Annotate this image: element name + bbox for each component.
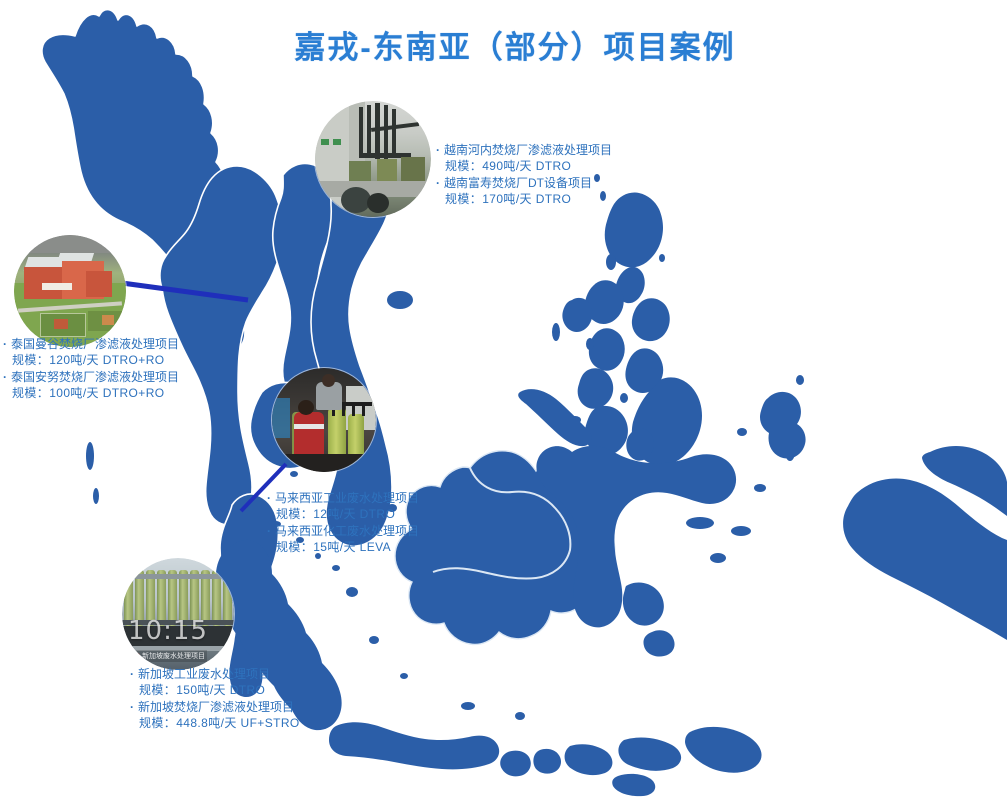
project-title: 新加坡工业废水处理项目 (131, 667, 270, 681)
project-spec: 规模：170吨/天 DTRO (437, 191, 612, 207)
project-entry: 新加坡工业废水处理项目 规模：150吨/天 DTRO (131, 666, 300, 698)
singapore-project-photo[interactable]: 10:15 新加坡废水处理项目 (122, 558, 234, 670)
project-title: 越南富寿焚烧厂DT设备项目 (437, 176, 592, 190)
project-spec: 规模：12吨/天 DTRO (268, 506, 419, 522)
project-spec: 规模：100吨/天 DTRO+RO (4, 385, 179, 401)
island-andaman (86, 442, 94, 470)
caption-thailand: 泰国曼谷焚烧厂渗滤液处理项目 规模：120吨/天 DTRO+RO 泰国安努焚烧厂… (4, 336, 179, 401)
project-entry: 越南河内焚烧厂渗滤液处理项目 规模：490吨/天 DTRO (437, 142, 612, 174)
sumba (612, 774, 655, 796)
project-spec: 规模：448.8吨/天 UF+STRO (131, 715, 300, 731)
project-entry: 泰国曼谷焚烧厂渗滤液处理项目 规模：120吨/天 DTRO+RO (4, 336, 179, 368)
island-small-1 (461, 702, 475, 710)
photo-timestamp: 10:15 (128, 616, 234, 646)
island-nicobar (93, 488, 99, 504)
project-title: 越南河内焚烧厂渗滤液处理项目 (437, 143, 612, 157)
project-title: 泰国曼谷焚烧厂渗滤液处理项目 (4, 337, 179, 351)
sulawesi-se-arm (623, 583, 664, 626)
thailand-project-photo[interactable] (14, 235, 126, 347)
caption-malaysia: 马来西亚工业废水处理项目 规模：12吨/天 DTRO 马来西亚化工废水处理项目 … (268, 490, 419, 555)
new-guinea (843, 479, 1007, 641)
sumbawa (565, 744, 613, 775)
project-entry: 越南富寿焚烧厂DT设备项目 规模：170吨/天 DTRO (437, 175, 612, 207)
lombok (533, 749, 561, 774)
project-title: 马来西亚工业废水处理项目 (268, 491, 419, 505)
project-entry: 泰国安努焚烧厂渗滤液处理项目 规模：100吨/天 DTRO+RO (4, 369, 179, 401)
watermark-dot (134, 653, 140, 659)
caption-singapore: 新加坡工业废水处理项目 规模：150吨/天 DTRO 新加坡焚烧厂渗滤液处理项目… (131, 666, 300, 731)
malaysia-project-photo[interactable] (272, 368, 376, 472)
singapore-photo-content: 10:15 新加坡废水处理项目 (122, 558, 234, 670)
project-spec: 规模：490吨/天 DTRO (437, 158, 612, 174)
project-spec: 规模：15吨/天 LEVA (268, 539, 419, 555)
island-seram (731, 526, 751, 536)
slide-canvas: 嘉戎-东南亚（部分）项目案例 (0, 0, 1007, 799)
malaysia-photo-content (272, 368, 376, 472)
project-entry: 新加坡焚烧厂渗滤液处理项目 规模：448.8吨/天 UF+STRO (131, 699, 300, 731)
vietnam-photo-content (315, 101, 431, 217)
island-obi (754, 484, 766, 492)
flores (618, 738, 681, 771)
vietnam-project-photo[interactable] (315, 101, 431, 217)
project-title: 马来西亚化工废水处理项目 (268, 524, 419, 538)
bali (500, 751, 531, 777)
project-spec: 规模：150吨/天 DTRO (131, 682, 300, 698)
halmahera (760, 392, 806, 459)
project-title: 泰国安努焚烧厂渗滤液处理项目 (4, 370, 179, 384)
page-title: 嘉戎-东南亚（部分）项目案例 (255, 22, 775, 67)
project-entry: 马来西亚工业废水处理项目 规模：12吨/天 DTRO (268, 490, 419, 522)
project-spec: 规模：120吨/天 DTRO+RO (4, 352, 179, 368)
island-hainan (387, 291, 413, 309)
thailand-photo-content (14, 235, 126, 347)
photo-watermark: 新加坡废水处理项目 (132, 650, 207, 662)
project-entry: 马来西亚化工废水处理项目 规模：15吨/天 LEVA (268, 523, 419, 555)
project-title: 新加坡焚烧厂渗滤液处理项目 (131, 700, 294, 714)
island-small-2 (515, 712, 525, 720)
buton (643, 630, 674, 656)
java (329, 722, 499, 769)
island-ambon (710, 553, 726, 563)
timor (685, 727, 762, 773)
island-buru (686, 517, 714, 529)
caption-vietnam: 越南河内焚烧厂渗滤液处理项目 规模：490吨/天 DTRO 越南富寿焚烧厂DT设… (437, 142, 612, 207)
